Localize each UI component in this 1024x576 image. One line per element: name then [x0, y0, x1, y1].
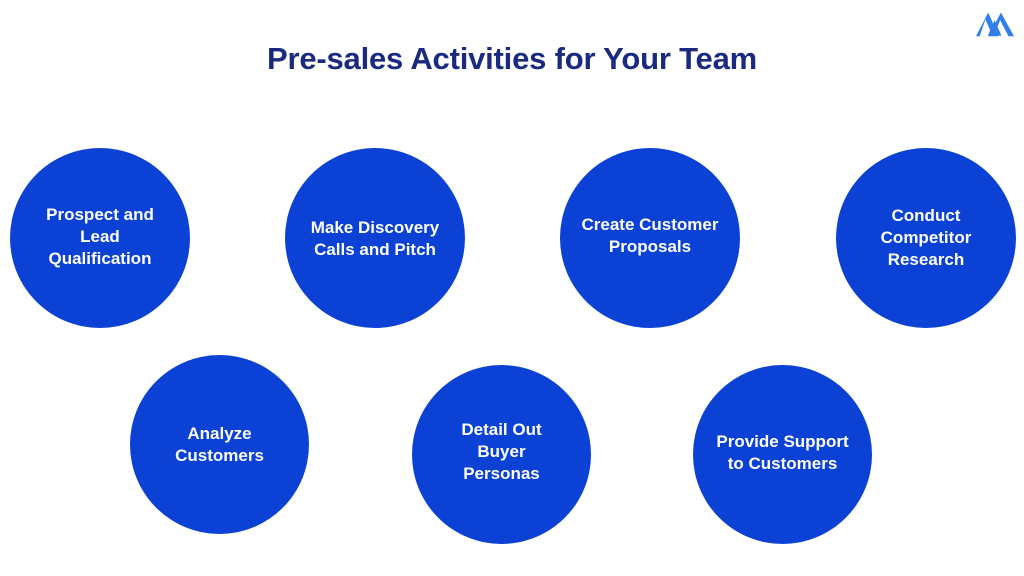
- activity-label: Detail Out Buyer Personas: [447, 419, 555, 485]
- activity-circle-provide-support-to-customers[interactable]: Provide Support to Customers: [693, 365, 872, 544]
- activity-label: Provide Support to Customers: [702, 431, 862, 475]
- activity-label: Conduct Competitor Research: [867, 205, 986, 271]
- activity-circle-detail-out-buyer-personas[interactable]: Detail Out Buyer Personas: [412, 365, 591, 544]
- activity-circle-analyze-customers[interactable]: Analyze Customers: [130, 355, 309, 534]
- mountain-logo-icon: [976, 10, 1014, 42]
- activity-circle-create-customer-proposals[interactable]: Create Customer Proposals: [560, 148, 740, 328]
- activity-label: Create Customer Proposals: [568, 214, 733, 258]
- activity-circle-conduct-competitor-research[interactable]: Conduct Competitor Research: [836, 148, 1016, 328]
- activity-circle-make-discovery-calls[interactable]: Make Discovery Calls and Pitch: [285, 148, 465, 328]
- activity-label: Make Discovery Calls and Pitch: [297, 217, 454, 261]
- activity-label: Prospect and Lead Qualification: [32, 204, 168, 270]
- activity-circle-prospect-lead-qualification[interactable]: Prospect and Lead Qualification: [10, 148, 190, 328]
- activity-label: Analyze Customers: [161, 423, 278, 467]
- page-title: Pre-sales Activities for Your Team: [0, 40, 1024, 78]
- slide-canvas: Pre-sales Activities for Your Team Prosp…: [0, 0, 1024, 576]
